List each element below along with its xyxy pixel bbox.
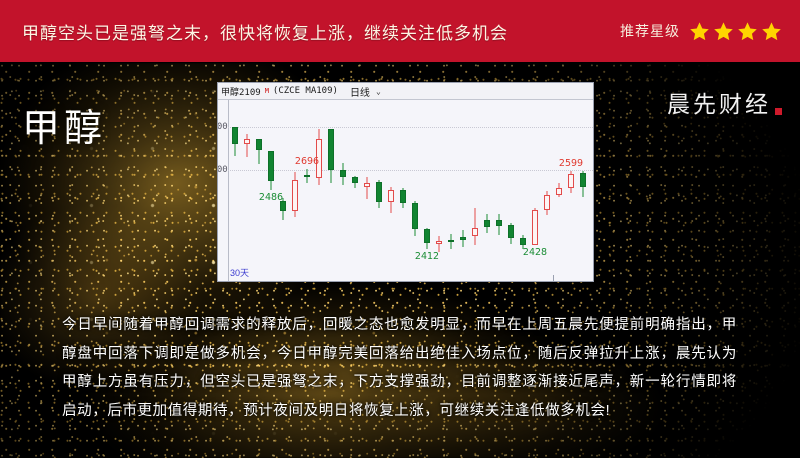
candle-body [472,228,479,237]
chart-price-annotation: 2428 [523,247,547,258]
chart-price-annotation: 2599 [559,158,583,169]
banner-headline: 甲醇空头已是强弩之末，很快将恢复上涨，继续关注低多机会 [22,19,508,44]
chart-symbol-superscript: M [265,87,269,95]
star-rating-group [689,21,782,42]
product-name: 甲醇 [22,97,106,152]
brand-logo: 晨先财经 [667,85,782,119]
candlestick [400,100,407,281]
candle-body [352,177,359,183]
star-icon [761,21,782,42]
chart-header: 甲醇2109M (CZCE MA109) 日线 ⌄ [218,83,593,100]
candle-body [376,182,383,202]
candlestick [352,100,359,281]
candlestick [280,100,287,281]
recommendation-rating: 推荐星级 [620,21,782,42]
y-axis-tick-label: 2600 [218,165,228,175]
candlestick [388,100,395,281]
candlestick [292,100,299,281]
candlestick [484,100,491,281]
candle-body [268,151,275,181]
candle-body [568,174,575,188]
candlestick [232,100,239,281]
y-axis-tick-label: 2700 [218,122,228,132]
candle-body [496,220,503,226]
candle-body [532,210,539,246]
candlestick [316,100,323,281]
x-axis-tick [553,275,554,281]
star-icon [737,21,758,42]
chart-price-annotation: 2696 [295,156,319,167]
chart-period-selector[interactable]: 日线 [350,84,370,99]
candle-body [436,241,443,244]
candle-body [340,170,347,177]
candle-body [304,175,311,177]
candle-body [556,188,563,195]
candle-wick [246,134,247,157]
candle-body [448,240,455,242]
chart-exchange-code: (CZCE MA109) [273,86,338,96]
chart-price-annotation: 2412 [415,251,439,262]
candlestick [580,100,587,281]
star-icon [713,21,734,42]
candlestick [244,100,251,281]
candle-body [400,190,407,203]
brand-name: 晨先财经 [667,85,771,119]
candle-body [424,229,431,244]
candle-body [484,220,491,227]
chart-price-annotation: 2486 [259,192,283,203]
candle-body [508,225,515,238]
candlestick-chart-widget[interactable]: 甲醇2109M (CZCE MA109) 日线 ⌄ 30天 2700260026… [217,82,594,282]
candle-wick [366,177,367,199]
candle-body [412,203,419,228]
candle-body [244,139,251,143]
candlestick [364,100,371,281]
rating-label: 推荐星级 [620,21,680,41]
candlestick [256,100,263,281]
chevron-down-icon[interactable]: ⌄ [376,87,381,96]
candlestick [496,100,503,281]
candle-body [580,173,587,187]
candlestick [508,100,515,281]
candle-body [520,238,527,245]
candle-body [256,139,263,150]
candle-wick [474,208,475,245]
candle-body [232,127,239,144]
chart-plot-area[interactable]: 30天 2700260026962599248624122428 [218,100,593,281]
candle-body [292,180,299,211]
candle-body [544,195,551,210]
article-paragraph: 今日早间随着甲醇回调需求的释放后，回暖之态也愈发明显，而早在上周五晨先便提前明确… [62,311,737,425]
candle-body [388,190,395,202]
candlestick [268,100,275,281]
candlestick [460,100,467,281]
candlestick [556,100,563,281]
candlestick [448,100,455,281]
top-banner: 甲醇空头已是强弩之末，很快将恢复上涨，继续关注低多机会 推荐星级 [0,0,800,63]
content-stage: 甲醇 晨先财经 甲醇2109M (CZCE MA109) 日线 ⌄ 30天 27… [0,63,800,458]
chart-symbol-name: 甲醇2109 [221,85,261,98]
brand-dot-icon [775,108,782,115]
candle-body [460,237,467,240]
candle-body [364,183,371,187]
candlestick [328,100,335,281]
candlestick [304,100,311,281]
star-icon [689,21,710,42]
candlestick [376,100,383,281]
candle-wick [438,236,439,252]
candlestick [340,100,347,281]
candlestick [472,100,479,281]
candlestick [568,100,575,281]
candle-body [328,129,335,171]
